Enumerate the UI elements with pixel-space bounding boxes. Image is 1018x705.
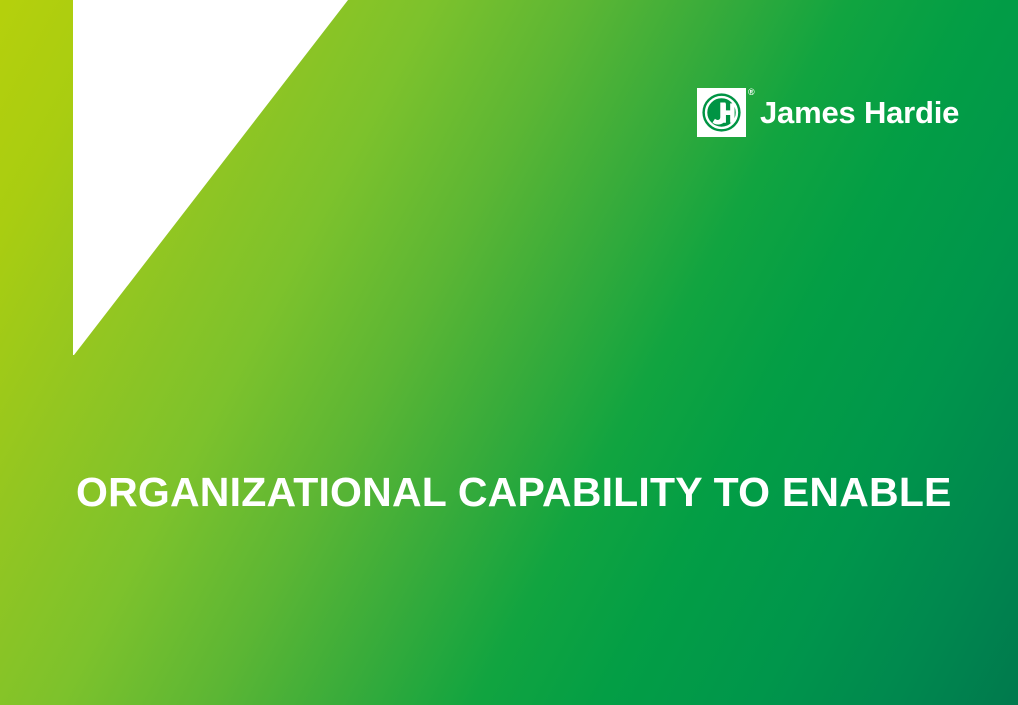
white-angled-wedge-decoration xyxy=(0,0,420,380)
registered-trademark-symbol: ® xyxy=(748,88,755,97)
logo-mark-wrap: ® xyxy=(697,88,746,137)
james-hardie-wordmark: James Hardie xyxy=(760,97,959,128)
james-hardie-jh-monogram-icon xyxy=(697,88,746,137)
presentation-slide: ® James Hardie ORGANIZATIONAL CAPABILITY… xyxy=(0,0,1018,705)
slide-title: ORGANIZATIONAL CAPABILITY TO ENABLE xyxy=(76,468,952,516)
james-hardie-logo: ® James Hardie xyxy=(697,88,959,137)
